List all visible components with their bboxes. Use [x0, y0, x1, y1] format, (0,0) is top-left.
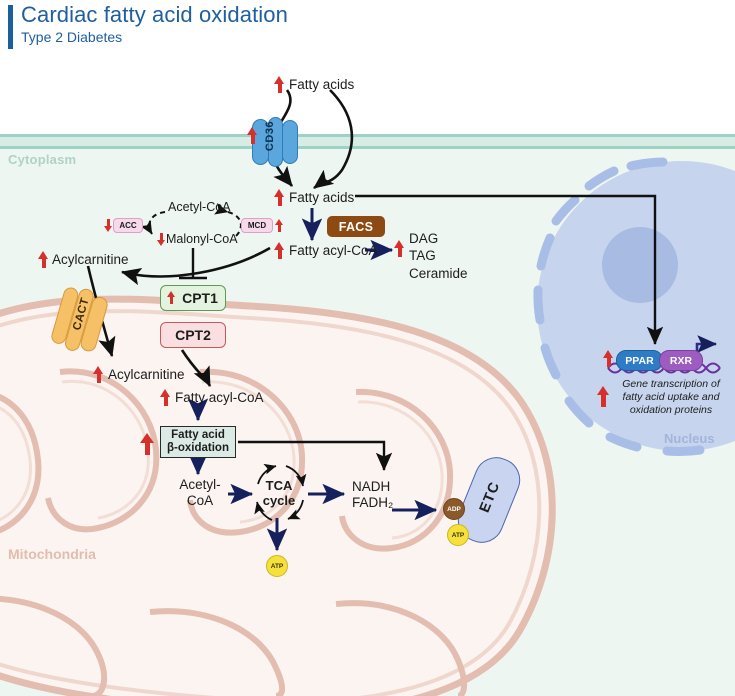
- malonyl-coa-down-arrow: [157, 233, 165, 246]
- gene-transcription-up-arrow: [597, 386, 610, 407]
- fatty-acids-cytosolic-up-arrow: [274, 189, 285, 206]
- title-accent-bar: [8, 5, 13, 49]
- page-subtitle: Type 2 Diabetes: [21, 29, 122, 45]
- plasma-membrane-core: [0, 137, 735, 146]
- ppar-up-arrow: [603, 350, 614, 367]
- acc-enzyme-box[interactable]: ACC: [113, 218, 143, 233]
- mcd-up-arrow: [275, 219, 283, 232]
- fatty-acyl-coa-matrix-up-arrow: [160, 389, 171, 406]
- ppar-receptor[interactable]: PPAR: [616, 350, 663, 371]
- cpt2-enzyme-box[interactable]: CPT2: [160, 322, 226, 348]
- nucleus-label: Nucleus: [664, 431, 715, 446]
- plasma-membrane-inner-leaflet: [0, 146, 735, 149]
- cpt1-label: CPT1: [182, 290, 218, 306]
- page-title: Cardiac fatty acid oxidation: [21, 2, 288, 28]
- beta-oxidation-up-arrow: [140, 433, 154, 455]
- mitochondria-label: Mitochondria: [8, 546, 96, 562]
- cpt1-up-arrow: [167, 291, 175, 304]
- cd36-label: CD36: [264, 112, 276, 160]
- fatty-acyl-coa-cytosolic-up-arrow: [274, 242, 285, 259]
- acylcarnitine-matrix-up-arrow: [93, 366, 104, 383]
- lipid-ceramide: Ceramide: [409, 265, 468, 282]
- reducing-equivalents-label: NADH FADH₂: [352, 479, 393, 512]
- lipid-tag: TAG: [409, 247, 468, 264]
- diagram-canvas: Cardiac fatty acid oxidation Type 2 Diab…: [0, 0, 735, 696]
- beta-oxidation-line-2: β-oxidation: [167, 442, 229, 455]
- cd36-lobe-right: [282, 120, 298, 164]
- acetyl-coa-matrix-line-2: CoA: [172, 493, 228, 509]
- cytoplasm-label: Cytoplasm: [8, 152, 76, 167]
- header: Cardiac fatty acid oxidation Type 2 Diab…: [0, 0, 735, 60]
- fadh2-label: FADH₂: [352, 495, 393, 511]
- gene-transcription-caption: Gene transcription of fatty acid uptake …: [612, 378, 730, 417]
- lipid-species-up-arrow: [394, 240, 405, 257]
- facs-enzyme-box[interactable]: FACS: [327, 216, 385, 237]
- tca-line-1: TCA: [256, 478, 302, 493]
- malonyl-coa-label: Malonyl-CoA: [166, 232, 238, 246]
- acetyl-coa-matrix-label: Acetyl- CoA: [172, 477, 228, 509]
- fatty-acyl-coa-matrix-label: Fatty acyl-CoA: [175, 390, 264, 405]
- atp-molecule-tca: ATP: [266, 555, 288, 577]
- fatty-acyl-coa-cytosolic-label: Fatty acyl-CoA: [289, 243, 378, 258]
- acetyl-coa-matrix-line-1: Acetyl-: [172, 477, 228, 493]
- lipid-species-list: DAG TAG Ceramide: [409, 230, 468, 282]
- cd36-transporter[interactable]: CD36: [252, 117, 296, 165]
- tca-cycle-label: TCA cycle: [256, 478, 302, 512]
- atp-molecule-etc: ATP: [447, 524, 469, 546]
- acylcarnitine-matrix-label: Acylcarnitine: [108, 367, 185, 382]
- nadh-label: NADH: [352, 479, 393, 495]
- adp-molecule: ADP: [443, 498, 465, 520]
- tca-line-2: cycle: [256, 493, 302, 508]
- acylcarnitine-cytosolic-up-arrow: [38, 251, 49, 268]
- beta-oxidation-line-1: Fatty acid: [171, 429, 225, 442]
- acc-down-arrow: [104, 219, 112, 232]
- beta-oxidation-box[interactable]: Fatty acid β-oxidation: [160, 426, 236, 458]
- fatty-acids-cytosolic-label: Fatty acids: [289, 190, 354, 205]
- mcd-enzyme-box[interactable]: MCD: [241, 218, 273, 233]
- cd36-up-arrow: [247, 127, 258, 144]
- rxr-receptor[interactable]: RXR: [659, 350, 703, 371]
- acylcarnitine-cytosolic-label: Acylcarnitine: [52, 252, 129, 267]
- fatty-acids-extracellular-up-arrow: [274, 76, 285, 93]
- lipid-dag: DAG: [409, 230, 468, 247]
- acetyl-coa-cytosolic-label: Acetyl-CoA: [168, 200, 231, 214]
- fatty-acids-extracellular-label: Fatty acids: [289, 77, 354, 92]
